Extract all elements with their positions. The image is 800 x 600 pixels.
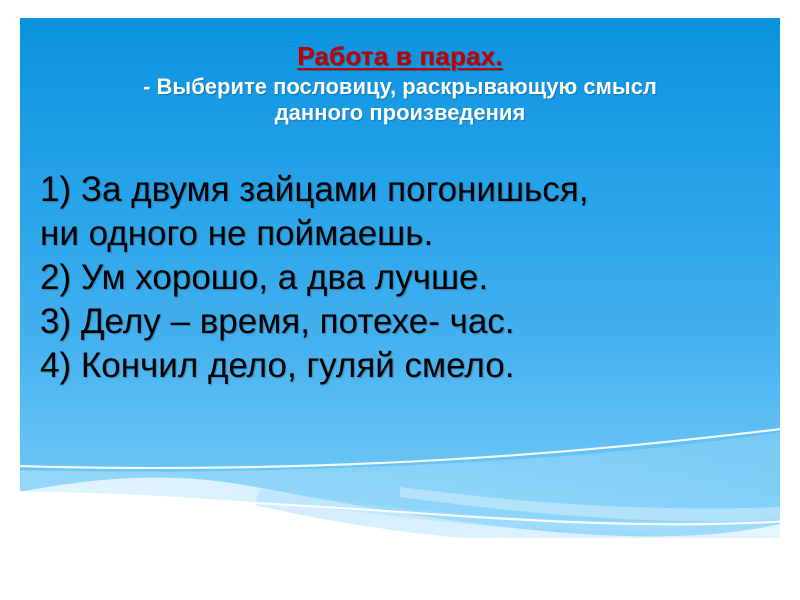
heading-block: Работа в парах. - Выберите пословицу, ра… [20, 40, 780, 126]
proverb-line-3: 3) Делу – время, потехе- час. [40, 300, 760, 344]
slide-subtitle-line-1: - Выберите пословицу, раскрывающую смысл [20, 74, 780, 100]
proverb-line-4: 4) Кончил дело, гуляй смело. [40, 344, 760, 388]
slide-subtitle-line-2: данного произведения [20, 100, 780, 126]
slide-canvas: Работа в парах. - Выберите пословицу, ра… [0, 0, 800, 600]
proverb-line-1-continued: ни одного не поймаешь. [40, 212, 760, 256]
proverb-list: 1) За двумя зайцами погонишься, ни одног… [40, 168, 760, 388]
proverb-line-1: 1) За двумя зайцами погонишься, [40, 168, 760, 212]
slide-content: Работа в парах. - Выберите пословицу, ра… [0, 0, 800, 600]
slide-title: Работа в парах. [20, 40, 780, 72]
proverb-line-2: 2) Ум хорошо, а два лучше. [40, 256, 760, 300]
